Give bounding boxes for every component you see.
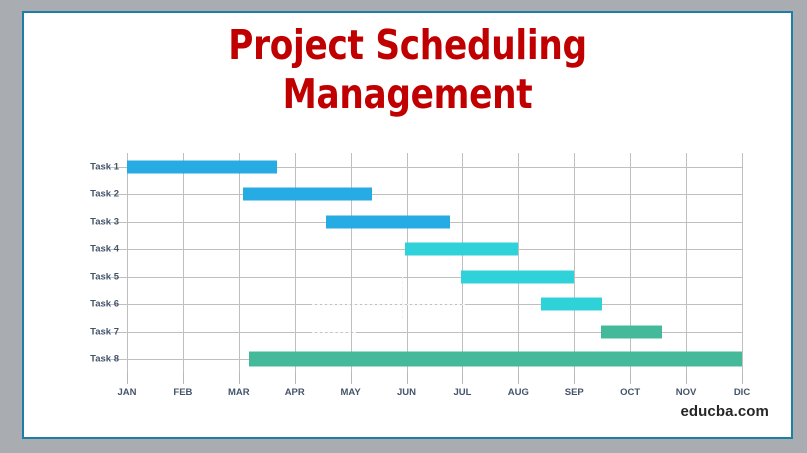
- y-axis-label-task-2: Task 2: [57, 189, 119, 200]
- slide-frame: Project Scheduling Management JANFEBMARA…: [22, 11, 793, 439]
- x-axis-label-jan: JAN: [117, 387, 136, 398]
- x-axis-tick: [239, 373, 240, 384]
- x-axis-tick: [630, 373, 631, 384]
- x-axis-label-jul: JUL: [453, 387, 471, 398]
- chart-gridline-vertical: [686, 153, 687, 373]
- chart-gridline-vertical: [351, 153, 352, 373]
- chart-ghost-dash: [312, 332, 357, 334]
- gantt-bar-task-1[interactable]: [127, 161, 277, 174]
- x-axis-tick: [407, 373, 408, 384]
- x-axis-tick: [574, 373, 575, 384]
- chart-gridline-vertical: [183, 153, 184, 373]
- chart-gridline-vertical: [742, 153, 743, 373]
- chart-gridline-vertical: [239, 153, 240, 373]
- chart-gridline-horizontal: [108, 194, 742, 195]
- x-axis-label-feb: FEB: [173, 387, 192, 398]
- x-axis-label-dic: DIC: [734, 387, 750, 398]
- gantt-bar-task-7[interactable]: [601, 325, 663, 338]
- x-axis-tick: [686, 373, 687, 384]
- x-axis-label-nov: NOV: [676, 387, 697, 398]
- x-axis-tick: [127, 373, 128, 384]
- x-axis-label-mar: MAR: [228, 387, 250, 398]
- chart-gridline-horizontal: [108, 277, 742, 278]
- gantt-bar-task-5[interactable]: [461, 270, 574, 283]
- x-axis-tick: [295, 373, 296, 384]
- chart-ghost-dash: [402, 290, 404, 304]
- chart-gridline-vertical: [407, 153, 408, 373]
- x-axis-label-oct: OCT: [620, 387, 640, 398]
- x-axis-label-apr: APR: [285, 387, 305, 398]
- x-axis-tick: [462, 373, 463, 384]
- chart-ghost-dash: [312, 304, 466, 306]
- x-axis-tick: [742, 373, 743, 384]
- y-axis-label-task-7: Task 7: [57, 326, 119, 337]
- gantt-bar-task-6[interactable]: [541, 298, 603, 311]
- chart-gridline-vertical: [630, 153, 631, 373]
- footer-brand: educba.com: [680, 403, 769, 420]
- y-axis-label-task-3: Task 3: [57, 216, 119, 227]
- y-axis-label-task-5: Task 5: [57, 271, 119, 282]
- gantt-bar-task-8[interactable]: [249, 352, 742, 367]
- y-axis-label-task-8: Task 8: [57, 354, 119, 365]
- y-axis-label-task-6: Task 6: [57, 299, 119, 310]
- x-axis-label-may: MAY: [341, 387, 361, 398]
- chart-gridline-vertical: [574, 153, 575, 373]
- gantt-bar-task-2[interactable]: [243, 188, 372, 201]
- x-axis-label-aug: AUG: [508, 387, 529, 398]
- chart-gridline-vertical: [295, 153, 296, 373]
- chart-gridline-vertical: [518, 153, 519, 373]
- chart-gridline-vertical: [127, 153, 128, 373]
- x-axis-tick: [518, 373, 519, 384]
- gantt-chart[interactable]: JANFEBMARAPRMAYJUNJULAUGSEPOCTNOVDICTask…: [24, 13, 795, 441]
- gantt-bar-task-3[interactable]: [326, 215, 450, 228]
- x-axis-label-jun: JUN: [397, 387, 416, 398]
- x-axis-label-sep: SEP: [565, 387, 584, 398]
- gantt-bar-task-4[interactable]: [405, 243, 518, 256]
- y-axis-label-task-4: Task 4: [57, 244, 119, 255]
- y-axis-label-task-1: Task 1: [57, 162, 119, 173]
- chart-gridline-vertical: [462, 153, 463, 373]
- x-axis-tick: [183, 373, 184, 384]
- x-axis-tick: [351, 373, 352, 384]
